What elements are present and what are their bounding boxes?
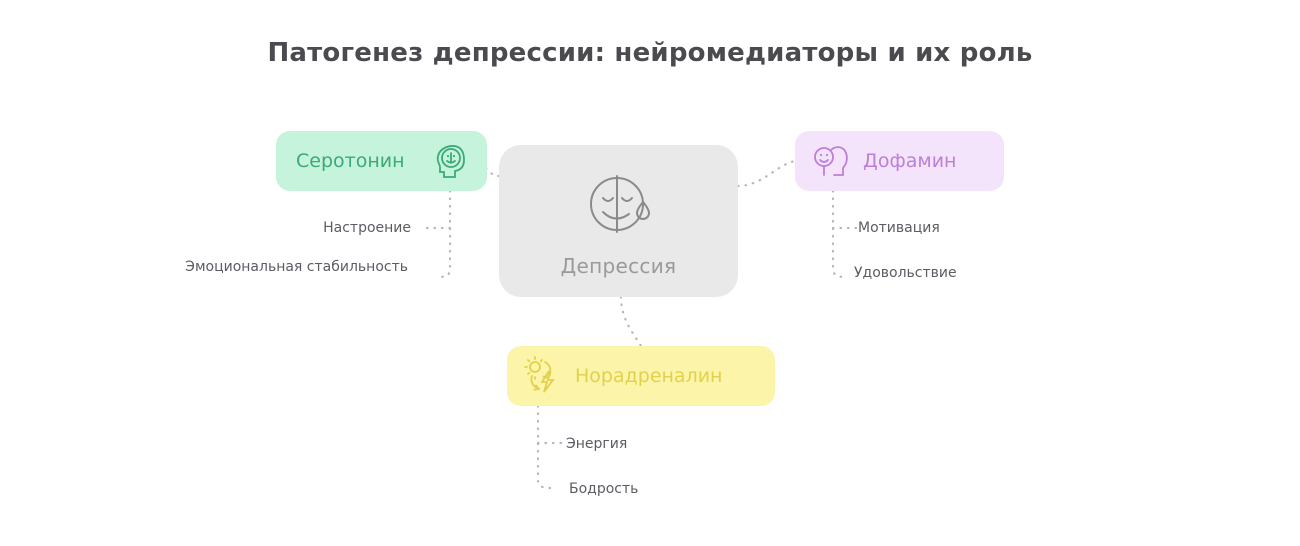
connector-noradrenaline-trunk <box>538 406 551 488</box>
central-node-depression[interactable]: Депрессия <box>499 145 738 297</box>
sub-label-dopamine-2: Удовольствие <box>854 265 1154 281</box>
node-serotonin[interactable]: Серотонин <box>276 131 487 191</box>
sub-label-noradrenaline-2: Бодрость <box>569 481 869 497</box>
connector-serotonin-trunk <box>438 191 450 277</box>
node-dopamine[interactable]: Дофамин <box>795 131 1004 191</box>
central-node-label: Депрессия <box>561 254 677 278</box>
head-with-face-icon <box>431 141 471 181</box>
connector-central-noradrenaline <box>621 297 641 346</box>
sub-label-noradrenaline-1: Энергия <box>566 436 866 452</box>
sun-lightning-cycle-icon <box>521 355 565 397</box>
sad-happy-face-icon <box>581 164 657 240</box>
node-serotonin-label: Серотонин <box>296 150 405 172</box>
connector-central-dopamine <box>738 161 795 186</box>
node-dopamine-label: Дофамин <box>863 150 956 172</box>
page-title: Патогенез депрессии: нейромедиаторы и их… <box>0 38 1300 68</box>
connector-dopamine-trunk <box>833 191 846 277</box>
sub-label-dopamine-1: Мотивация <box>858 220 1158 236</box>
node-noradrenaline-label: Норадреналин <box>575 365 722 387</box>
sub-label-serotonin-1: Настроение <box>114 220 411 236</box>
diagram-canvas: Патогенез депрессии: нейромедиаторы и их… <box>0 0 1300 546</box>
sub-label-serotonin-2: Эмоциональная стабильность <box>64 259 408 275</box>
node-noradrenaline[interactable]: Норадреналин <box>507 346 775 406</box>
head-with-smiley-icon <box>809 141 853 181</box>
